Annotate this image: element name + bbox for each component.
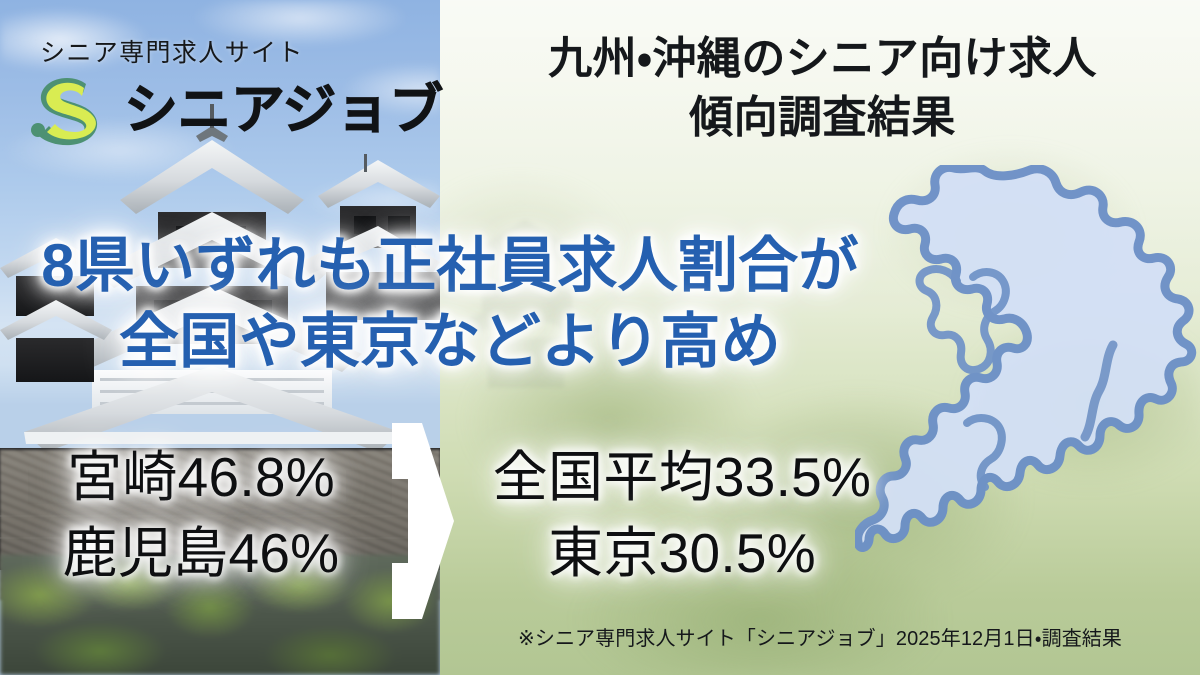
title-line-2: 傾向調査結果 xyxy=(455,89,1190,148)
brand-name: シニアジョブ xyxy=(124,83,443,137)
source-note: ※シニア専門求人サイト「シニアジョブ」2025年12月1日・調査結果 xyxy=(450,622,1190,651)
infographic-canvas: シニア専門求人サイト シニアジョブ 九州・沖縄のシニア向け求人 傾向調査結果 8… xyxy=(0,0,1200,675)
stat-miyazaki: 宮崎46.8% xyxy=(14,440,388,516)
s-logo-icon xyxy=(24,72,116,148)
stat-tokyo: 東京30.5% xyxy=(452,516,912,592)
brand-tagline: シニア専門求人サイト xyxy=(40,33,304,69)
brand-logo[interactable]: シニアジョブ xyxy=(24,72,443,148)
title-line-1: 九州・沖縄のシニア向け求人 xyxy=(455,30,1190,89)
headline-line-2: 全国や東京などより高め xyxy=(0,304,900,380)
page-title: 九州・沖縄のシニア向け求人 傾向調査結果 xyxy=(455,30,1190,148)
comparison-stats: 全国平均33.5% 東京30.5% xyxy=(452,440,912,592)
headline-line-1: 8県いずれも正社員求人割合が xyxy=(0,228,900,304)
stat-national-average: 全国平均33.5% xyxy=(452,440,912,516)
headline: 8県いずれも正社員求人割合が 全国や東京などより高め xyxy=(0,228,900,379)
regional-stats: 宮崎46.8% 鹿児島46% xyxy=(14,440,388,592)
divider-arrow-icon xyxy=(392,423,454,619)
stat-kagoshima: 鹿児島46% xyxy=(14,516,388,592)
